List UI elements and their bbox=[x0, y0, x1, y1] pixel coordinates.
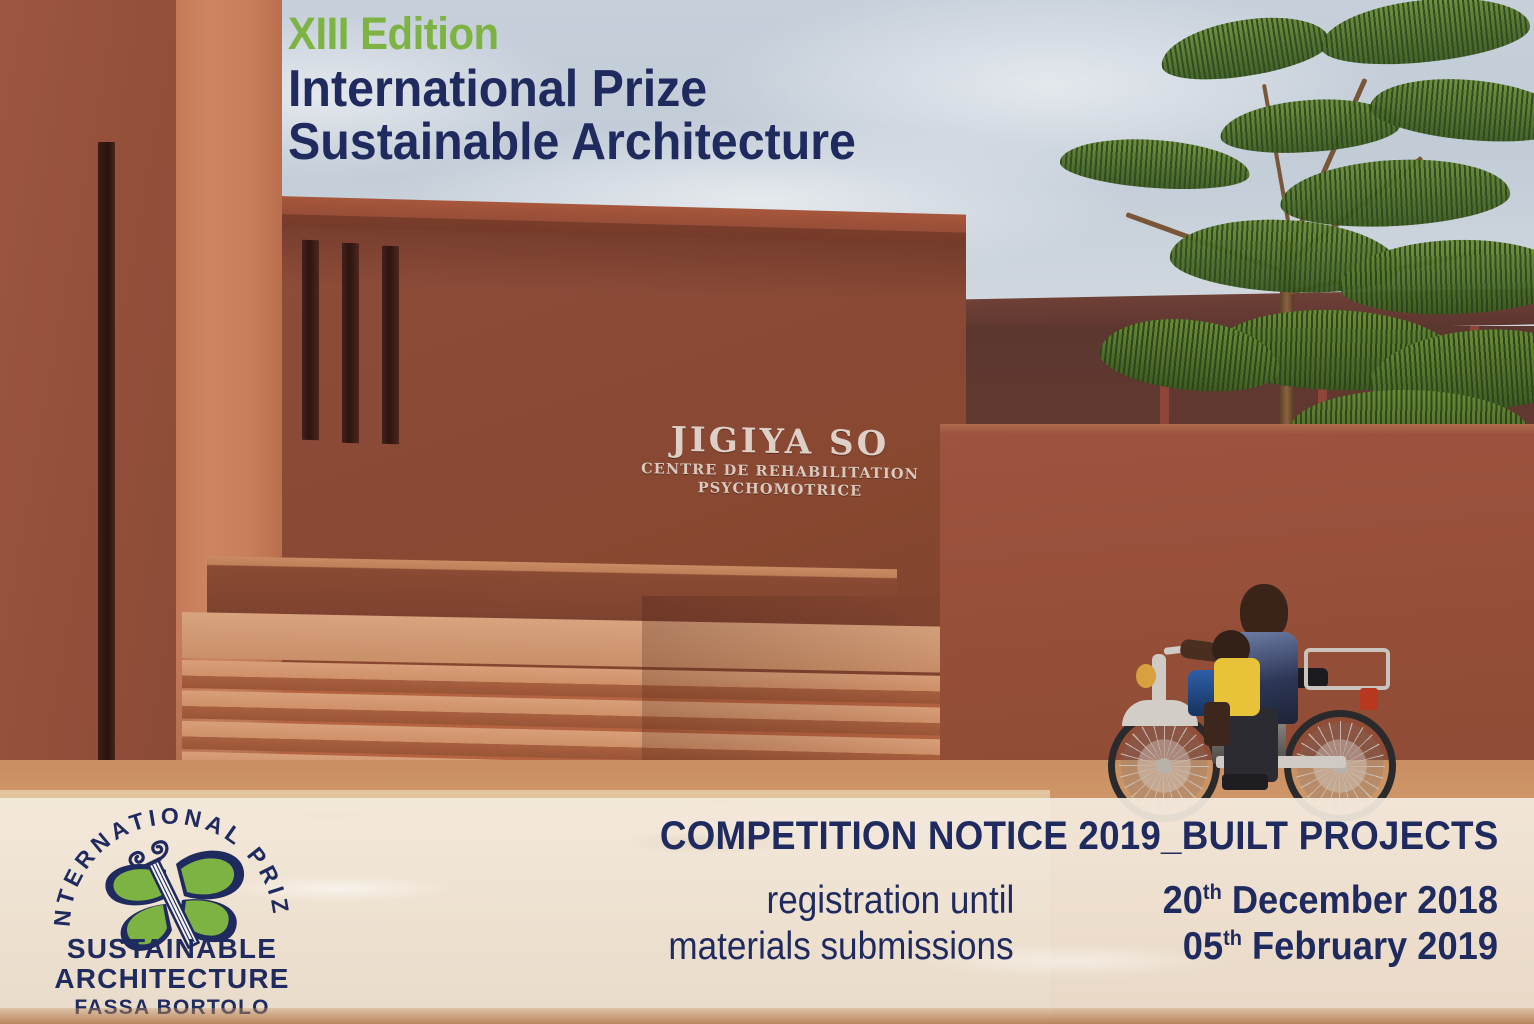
deadline-label: registration until bbox=[766, 879, 1014, 923]
left-pier-window-slot bbox=[98, 142, 115, 762]
rider-foot bbox=[1222, 774, 1268, 790]
tree-foliage bbox=[1278, 154, 1511, 232]
tail-light bbox=[1360, 688, 1378, 710]
tree-foliage bbox=[1317, 0, 1532, 73]
facade-slot-2 bbox=[342, 243, 359, 443]
page-title-line-1: International Prize bbox=[288, 64, 1032, 115]
deadline-list: registration until 20th December 2018 ma… bbox=[587, 879, 1498, 969]
deadline-date: 20th December 2018 bbox=[1080, 879, 1499, 923]
courtyard-wall-coping bbox=[940, 424, 1534, 434]
poster: JIGIYA SO CENTRE DE REHABILITATION PSYCH… bbox=[0, 0, 1534, 1024]
logo-line-1: SUSTAINABLE bbox=[67, 933, 277, 964]
logo-line-2: ARCHITECTURE bbox=[54, 963, 289, 994]
deadline-row: materials submissions 05th February 2019 bbox=[630, 925, 1498, 969]
poster-header: XIII Edition International Prize Sustain… bbox=[288, 10, 1088, 168]
luggage-rack bbox=[1304, 648, 1390, 690]
headlight bbox=[1136, 664, 1156, 688]
wheel-hub bbox=[1156, 758, 1172, 774]
page-title-line-2: Sustainable Architecture bbox=[288, 117, 1032, 168]
banner-bottom-edge bbox=[0, 1008, 1534, 1024]
deadline-row: registration until 20th December 2018 bbox=[739, 879, 1498, 923]
acacia-tree bbox=[1040, 0, 1534, 460]
edition-label: XIII Edition bbox=[288, 10, 1032, 57]
child-leg bbox=[1204, 702, 1230, 746]
logo: INTERNATIONAL PRIZE bbox=[32, 806, 312, 1021]
tree-foliage bbox=[1368, 71, 1534, 148]
facade-slot-3 bbox=[382, 246, 399, 444]
competition-notice-title: COMPETITION NOTICE 2019_BUILT PROJECTS bbox=[659, 814, 1498, 859]
motorcycle-with-riders bbox=[1108, 592, 1398, 820]
deadline-date: 05th February 2019 bbox=[1080, 925, 1499, 969]
left-pier-wall bbox=[0, 0, 176, 824]
deadline-label: materials submissions bbox=[669, 925, 1014, 969]
tree-foliage bbox=[1157, 7, 1334, 89]
sign-name: JIGIYA SO bbox=[630, 422, 930, 462]
bottom-banner: INTERNATIONAL PRIZE bbox=[0, 798, 1534, 1024]
front-fender bbox=[1122, 700, 1198, 726]
building-sign: JIGIYA SO CENTRE DE REHABILITATION PSYCH… bbox=[630, 422, 930, 501]
rider-leg bbox=[1224, 708, 1278, 782]
banner-text-block: COMPETITION NOTICE 2019_BUILT PROJECTS r… bbox=[587, 814, 1498, 969]
facade-slot-1 bbox=[302, 240, 319, 440]
